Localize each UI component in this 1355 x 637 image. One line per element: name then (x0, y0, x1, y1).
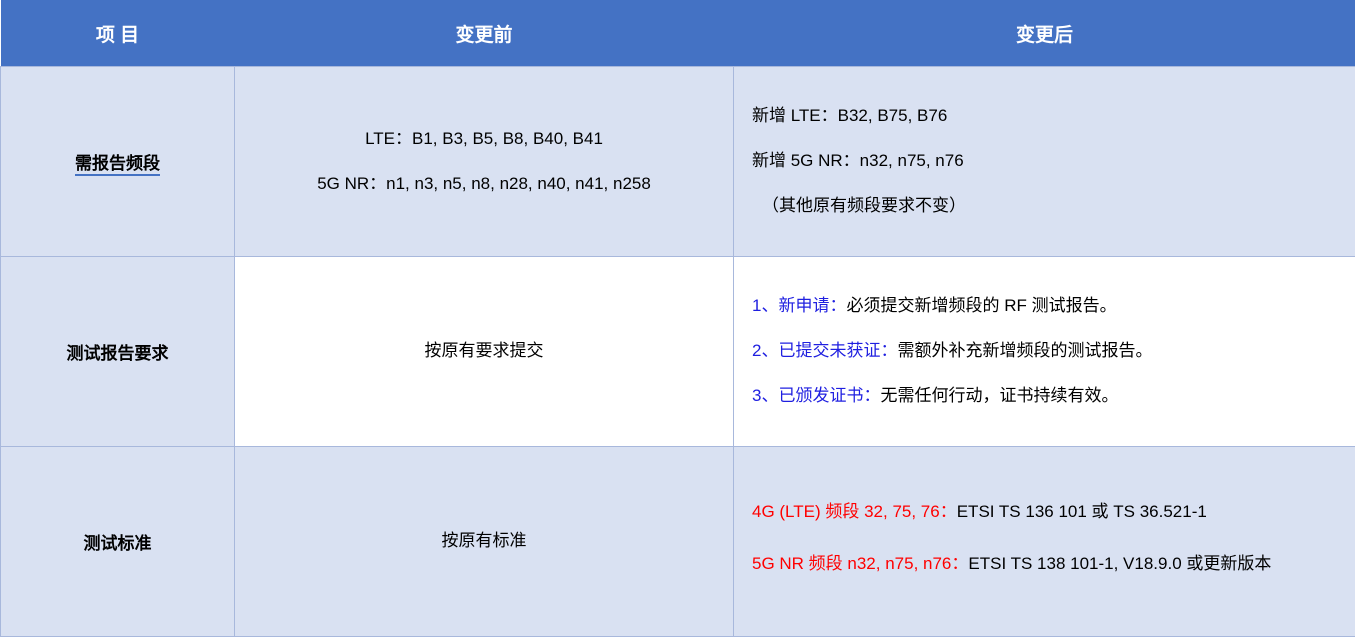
spacer (752, 522, 1341, 548)
table-header: 项 目 变更前 变更后 (1, 0, 1355, 67)
after-test-standard-lte: 4G (LTE) 频段 32, 75, 76：ETSI TS 136 101 或… (752, 503, 1341, 522)
after-bands-note: （其他原有频段要求不变） (752, 197, 1341, 216)
column-header-after: 变更后 (734, 0, 1355, 67)
after-test-standard-nr-text: ETSI TS 138 101-1, V18.9.0 或更新版本 (968, 554, 1271, 573)
after-test-standard-lte-label: 4G (LTE) 频段 32, 75, 76： (752, 502, 957, 521)
row-before-test-standard: 按原有标准 (235, 447, 734, 637)
after-report-req-item-1-text: 必须提交新增频段的 RF 测试报告。 (846, 296, 1116, 315)
row-item-label-text: 需报告频段 (75, 154, 160, 176)
column-header-before: 变更前 (235, 0, 734, 67)
after-test-standard-lte-text: ETSI TS 136 101 或 TS 36.521-1 (957, 502, 1207, 521)
spacer (752, 171, 1341, 197)
row-item-label-text: 测试报告要求 (67, 344, 169, 363)
after-report-req-item-3-text: 无需任何行动，证书持续有效。 (880, 386, 1118, 405)
spacer (235, 149, 733, 175)
after-report-req-item-3: 3、已颁发证书：无需任何行动，证书持续有效。 (752, 387, 1341, 406)
after-bands-nr: 新增 5G NR：n32, n75, n76 (752, 152, 1341, 171)
spacer (752, 361, 1341, 387)
before-report-req-text: 按原有要求提交 (235, 342, 733, 361)
before-bands-nr: 5G NR：n1, n3, n5, n8, n28, n40, n41, n25… (235, 175, 733, 194)
after-report-req-item-3-label: 3、已颁发证书： (752, 386, 880, 405)
row-before-bands: LTE：B1, B3, B5, B8, B40, B41 5G NR：n1, n… (235, 67, 734, 257)
after-report-req-item-1-label: 1、新申请： (752, 296, 846, 315)
column-header-item: 项 目 (1, 0, 235, 67)
after-bands-lte: 新增 LTE：B32, B75, B76 (752, 107, 1341, 126)
change-comparison-table: 项 目 变更前 变更后 需报告频段 LTE：B1, B3, B5, B8, B4… (0, 0, 1355, 637)
table-body: 需报告频段 LTE：B1, B3, B5, B8, B40, B41 5G NR… (1, 67, 1355, 637)
after-test-standard-nr-label: 5G NR 频段 n32, n75, n76： (752, 554, 968, 573)
before-bands-lte: LTE：B1, B3, B5, B8, B40, B41 (235, 130, 733, 149)
row-after-bands: 新增 LTE：B32, B75, B76 新增 5G NR：n32, n75, … (734, 67, 1355, 257)
after-report-req-item-2-text: 需额外补充新增频段的测试报告。 (897, 341, 1152, 360)
row-item-label-bands: 需报告频段 (1, 67, 235, 257)
spacer (752, 126, 1341, 152)
table-row: 测试标准 按原有标准 4G (LTE) 频段 32, 75, 76：ETSI T… (1, 447, 1355, 637)
before-test-standard-text: 按原有标准 (235, 532, 733, 551)
row-item-label-report-req: 测试报告要求 (1, 257, 235, 447)
row-after-test-standard: 4G (LTE) 频段 32, 75, 76：ETSI TS 136 101 或… (734, 447, 1355, 637)
table-row: 测试报告要求 按原有要求提交 1、新申请：必须提交新增频段的 RF 测试报告。 … (1, 257, 1355, 447)
row-before-report-req: 按原有要求提交 (235, 257, 734, 447)
table-header-row: 项 目 变更前 变更后 (1, 0, 1355, 67)
after-report-req-item-2-label: 2、已提交未获证： (752, 341, 897, 360)
row-after-report-req: 1、新申请：必须提交新增频段的 RF 测试报告。 2、已提交未获证：需额外补充新… (734, 257, 1355, 447)
row-item-label-test-standard: 测试标准 (1, 447, 235, 637)
spacer (752, 316, 1341, 342)
after-report-req-item-2: 2、已提交未获证：需额外补充新增频段的测试报告。 (752, 342, 1341, 361)
after-report-req-item-1: 1、新申请：必须提交新增频段的 RF 测试报告。 (752, 297, 1341, 316)
after-test-standard-nr: 5G NR 频段 n32, n75, n76：ETSI TS 138 101-1… (752, 548, 1341, 580)
row-item-label-text: 测试标准 (84, 534, 152, 553)
table-row: 需报告频段 LTE：B1, B3, B5, B8, B40, B41 5G NR… (1, 67, 1355, 257)
